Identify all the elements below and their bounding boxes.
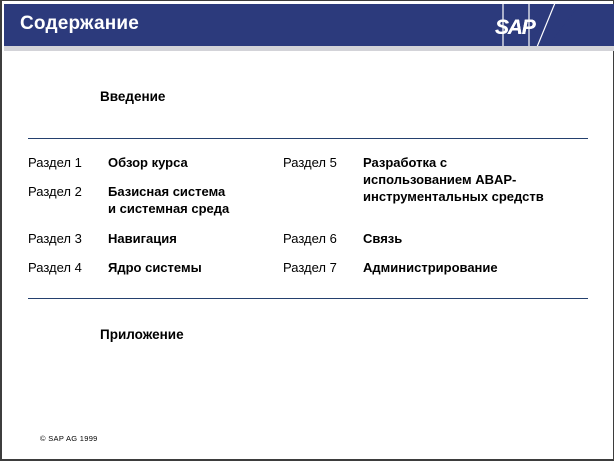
slide-border-top [0,0,614,1]
unit-row: Раздел 4 Ядро системы [28,260,202,277]
unit-title: Администрирование [363,260,498,277]
unit-row: Раздел 5 Разработка с использованием ABA… [283,155,544,206]
sap-logo-text: SAP [495,17,535,38]
slide-title: Содержание [20,13,139,35]
unit-title: Навигация [108,231,177,248]
unit-row: Раздел 1 Обзор курса [28,155,188,172]
unit-title: Обзор курса [108,155,188,172]
unit-label: Раздел 5 [283,155,363,172]
unit-row: Раздел 6 Связь [283,231,402,248]
unit-label: Раздел 3 [28,231,108,248]
slide-header-bar: Содержание SAP [4,4,614,46]
unit-label: Раздел 7 [283,260,363,277]
unit-label: Раздел 2 [28,184,108,201]
slide-content: Введение Раздел 1 Обзор курса Раздел 2 Б… [0,51,614,461]
unit-row: Раздел 7 Администрирование [283,260,498,277]
unit-label: Раздел 1 [28,155,108,172]
intro-heading: Введение [100,89,165,104]
unit-title: Связь [363,231,402,248]
unit-label: Раздел 4 [28,260,108,277]
unit-title: Разработка с использованием ABAP- инстру… [363,155,544,206]
slide-canvas: Содержание SAP Введение Раздел 1 Обзор к… [0,0,614,461]
unit-title: Базисная система и системная среда [108,184,229,218]
unit-title: Ядро системы [108,260,202,277]
divider-bottom [28,298,588,299]
divider-top [28,138,588,139]
copyright-notice: © SAP AG 1999 [40,434,98,443]
unit-row: Раздел 2 Базисная система и системная ср… [28,184,229,218]
sap-logo: SAP [481,4,614,46]
unit-row: Раздел 3 Навигация [28,231,177,248]
appendix-heading: Приложение [100,327,184,342]
unit-label: Раздел 6 [283,231,363,248]
